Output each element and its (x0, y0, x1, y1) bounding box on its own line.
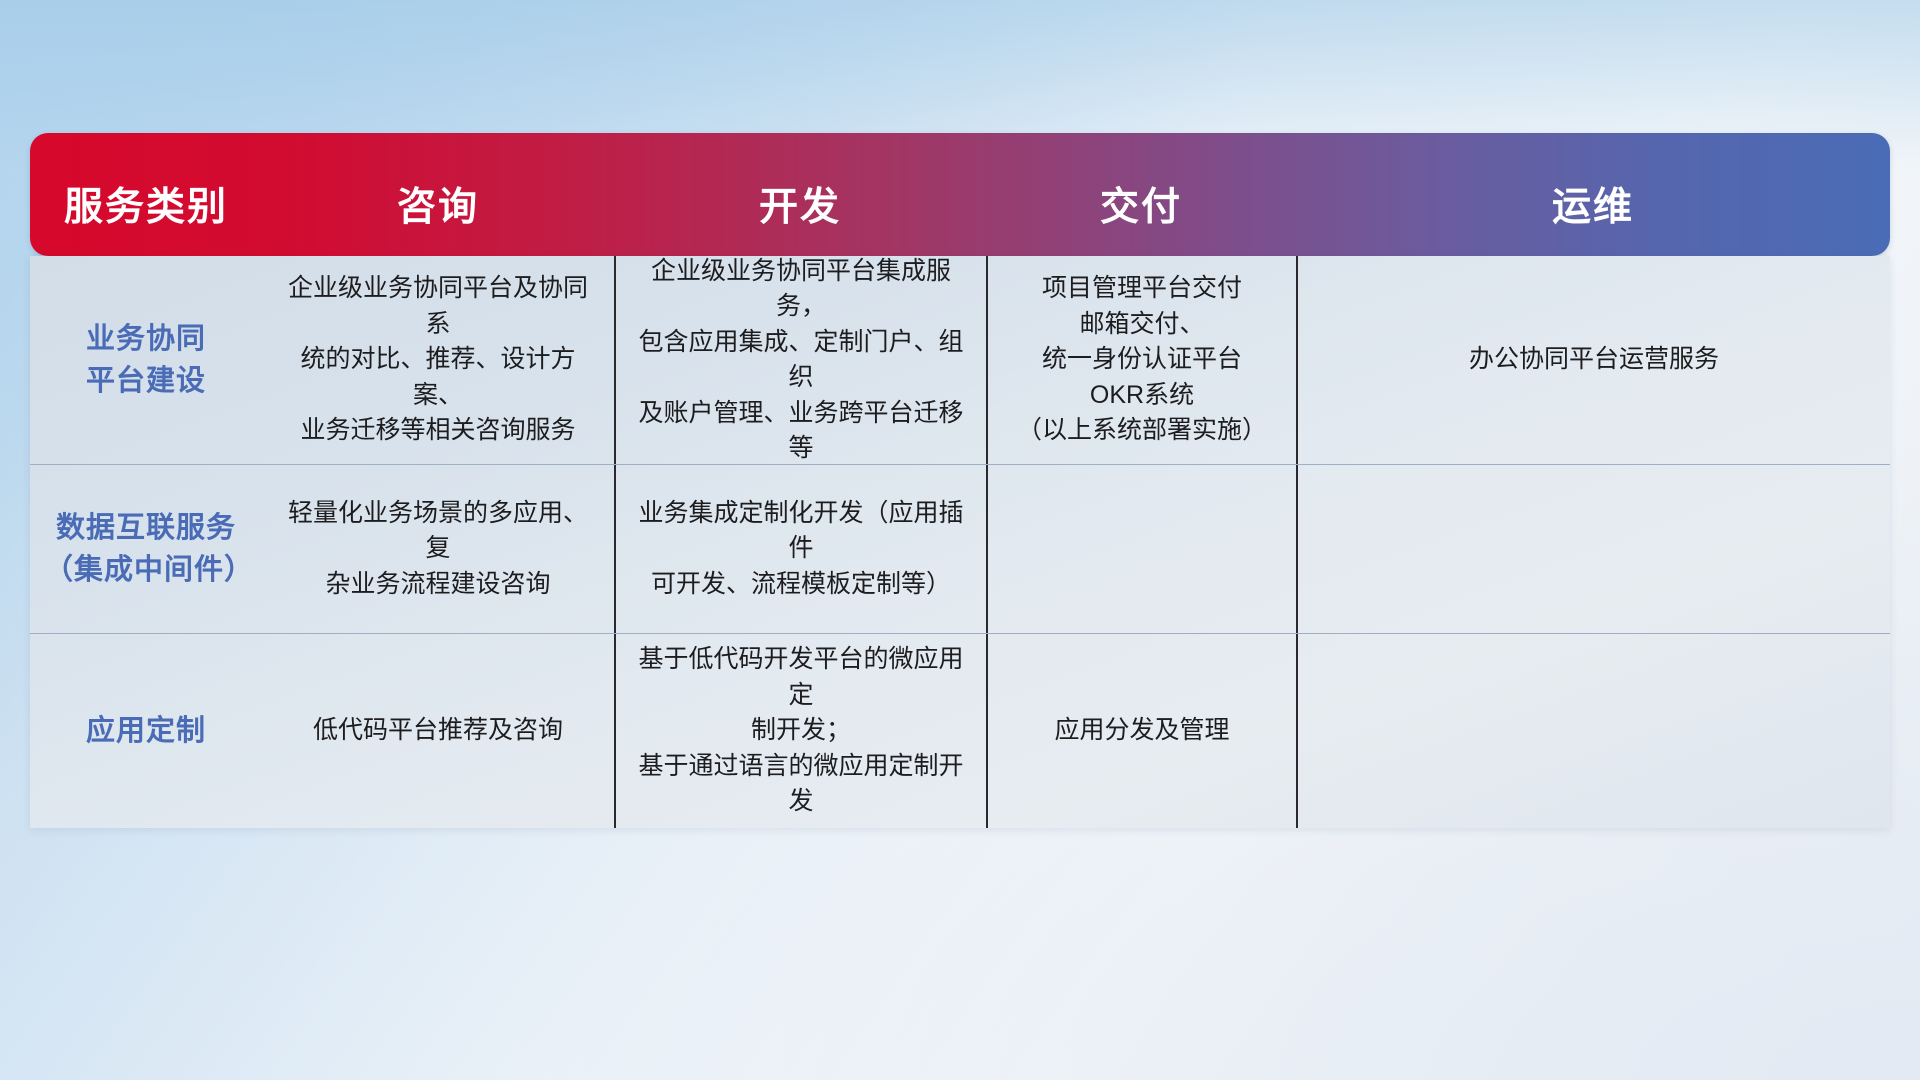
table-header-row: 服务类别 咨询 开发 交付 运维 (30, 133, 1890, 256)
table-row: 数据互联服务 （集成中间件） 轻量化业务场景的多应用、复 杂业务流程建设咨询 业… (30, 464, 1890, 633)
table-header-cell-delivery: 交付 (986, 133, 1296, 256)
table-cell-consulting: 低代码平台推荐及咨询 (262, 634, 614, 828)
table-header-label-development: 开发 (759, 176, 841, 232)
table-cell-category: 应用定制 (30, 634, 262, 828)
table-cell-operations (1296, 465, 1890, 633)
table-cell-operations: 办公协同平台运营服务 (1296, 256, 1890, 464)
table-header-cell-consulting: 咨询 (262, 133, 614, 256)
table-cell-consulting: 轻量化业务场景的多应用、复 杂业务流程建设咨询 (262, 465, 614, 633)
table-cell-delivery: 项目管理平台交付 邮箱交付、 统一身份认证平台 OKR系统 （以上系统部署实施） (986, 256, 1296, 464)
table-header-label-delivery: 交付 (1100, 176, 1182, 232)
service-matrix-table: 服务类别 咨询 开发 交付 运维 业务协同 平台建设 企业级业务协同平台及协同系… (30, 133, 1890, 828)
table-cell-delivery: 应用分发及管理 (986, 634, 1296, 828)
table-cell-development: 业务集成定制化开发（应用插件 可开发、流程模板定制等） (614, 465, 986, 633)
table-cell-development: 基于低代码开发平台的微应用定 制开发； 基于通过语言的微应用定制开发 (614, 634, 986, 828)
table-cell-development: 企业级业务协同平台集成服务， 包含应用集成、定制门户、组织 及账户管理、业务跨平… (614, 256, 986, 464)
table-cell-category: 业务协同 平台建设 (30, 256, 262, 464)
table-row: 应用定制 低代码平台推荐及咨询 基于低代码开发平台的微应用定 制开发； 基于通过… (30, 633, 1890, 828)
table-cell-delivery (986, 465, 1296, 633)
table-cell-category: 数据互联服务 （集成中间件） (30, 465, 262, 633)
table-header-label-category: 服务类别 (64, 176, 228, 232)
table-header-cell-operations: 运维 (1296, 133, 1890, 256)
slide-canvas: 服务类别 咨询 开发 交付 运维 业务协同 平台建设 企业级业务协同平台及协同系… (0, 0, 1920, 1080)
table-header-label-consulting: 咨询 (397, 176, 479, 232)
table-header-cell-category: 服务类别 (30, 133, 262, 256)
table-cell-consulting: 企业级业务协同平台及协同系 统的对比、推荐、设计方案、 业务迁移等相关咨询服务 (262, 256, 614, 464)
table-row: 业务协同 平台建设 企业级业务协同平台及协同系 统的对比、推荐、设计方案、 业务… (30, 256, 1890, 464)
table-body: 业务协同 平台建设 企业级业务协同平台及协同系 统的对比、推荐、设计方案、 业务… (30, 256, 1890, 828)
table-header-label-operations: 运维 (1552, 176, 1634, 232)
table-header-cell-development: 开发 (614, 133, 986, 256)
table-cell-operations (1296, 634, 1890, 828)
